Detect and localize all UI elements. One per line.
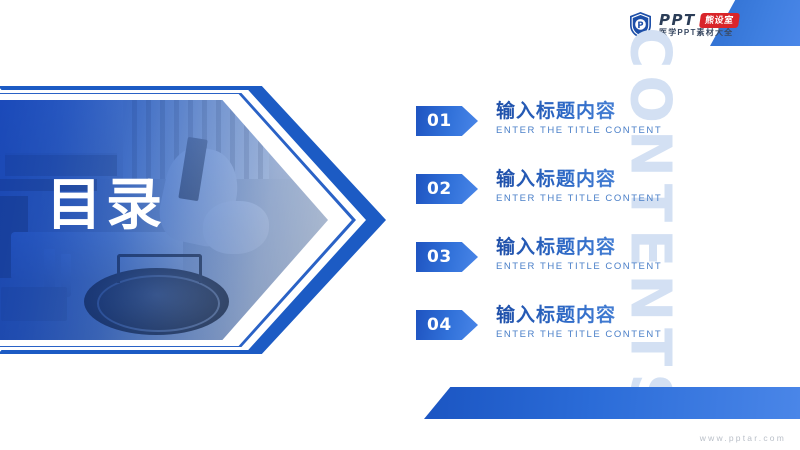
toc-number: 04 [416, 317, 452, 334]
toc-number-badge: 04 [416, 310, 478, 340]
toc-subtitle: ENTER THE TITLE CONTENT [496, 329, 662, 340]
toc-number-badge: 01 [416, 106, 478, 136]
brand-red-badge: 熊设室 [699, 13, 740, 28]
toc-title: 输入标题内容 [496, 100, 662, 122]
toc-item-02[interactable]: 02 输入标题内容 ENTER THE TITLE CONTENT [416, 168, 686, 236]
toc-title: 输入标题内容 [496, 236, 662, 258]
toc-text-block: 输入标题内容 ENTER THE TITLE CONTENT [496, 100, 662, 137]
site-url-label: www.pptar.com [700, 433, 786, 443]
toc-text-block: 输入标题内容 ENTER THE TITLE CONTENT [496, 168, 662, 205]
brand-primary-row: PPT 熊设室 [659, 13, 738, 28]
toc-item-04[interactable]: 04 输入标题内容 ENTER THE TITLE CONTENT [416, 304, 686, 372]
brand-ppt-text: PPT [659, 13, 696, 28]
slide-canvas: P PPT 熊设室 医学PPT素材大全 [0, 0, 800, 450]
page-title: 目录 [46, 178, 166, 234]
toc-text-block: 输入标题内容 ENTER THE TITLE CONTENT [496, 236, 662, 273]
toc-subtitle: ENTER THE TITLE CONTENT [496, 261, 662, 272]
toc-title: 输入标题内容 [496, 168, 662, 190]
toc-subtitle: ENTER THE TITLE CONTENT [496, 125, 662, 136]
toc-text-block: 输入标题内容 ENTER THE TITLE CONTENT [496, 304, 662, 341]
toc-number: 03 [416, 249, 452, 266]
toc-item-01[interactable]: 01 输入标题内容 ENTER THE TITLE CONTENT [416, 100, 686, 168]
table-of-contents-list: 01 输入标题内容 ENTER THE TITLE CONTENT 02 输入标… [416, 100, 686, 372]
toc-number: 01 [416, 113, 452, 130]
toc-number: 02 [416, 181, 452, 198]
toc-number-badge: 02 [416, 174, 478, 204]
bottom-accent-shape [424, 387, 800, 419]
toc-item-03[interactable]: 03 输入标题内容 ENTER THE TITLE CONTENT [416, 236, 686, 304]
toc-number-badge: 03 [416, 242, 478, 272]
toc-subtitle: ENTER THE TITLE CONTENT [496, 193, 662, 204]
toc-title: 输入标题内容 [496, 304, 662, 326]
